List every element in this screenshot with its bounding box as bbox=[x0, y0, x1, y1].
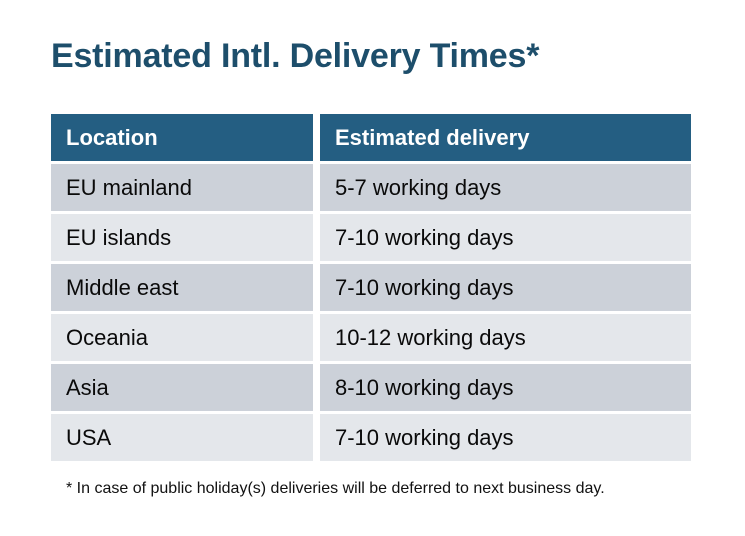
table-row: EU mainland 5-7 working days bbox=[51, 164, 691, 211]
cell-estimated-delivery: 8-10 working days bbox=[320, 364, 691, 411]
delivery-times-table: Location Estimated delivery EU mainland … bbox=[51, 114, 691, 461]
table-row: Oceania 10-12 working days bbox=[51, 314, 691, 361]
table-row: EU islands 7-10 working days bbox=[51, 214, 691, 261]
cell-location: EU islands bbox=[51, 214, 313, 261]
table-row: Asia 8-10 working days bbox=[51, 364, 691, 411]
column-header-location: Location bbox=[51, 114, 313, 161]
cell-location: Asia bbox=[51, 364, 313, 411]
column-header-estimated-delivery: Estimated delivery bbox=[320, 114, 691, 161]
cell-location: USA bbox=[51, 414, 313, 461]
cell-location: Oceania bbox=[51, 314, 313, 361]
cell-estimated-delivery: 5-7 working days bbox=[320, 164, 691, 211]
table-header-row: Location Estimated delivery bbox=[51, 114, 691, 161]
page-title: Estimated Intl. Delivery Times* bbox=[51, 36, 539, 77]
cell-estimated-delivery: 7-10 working days bbox=[320, 214, 691, 261]
delivery-times-page: Estimated Intl. Delivery Times* Location… bbox=[0, 0, 745, 536]
cell-location: Middle east bbox=[51, 264, 313, 311]
cell-estimated-delivery: 7-10 working days bbox=[320, 264, 691, 311]
cell-estimated-delivery: 7-10 working days bbox=[320, 414, 691, 461]
table-row: USA 7-10 working days bbox=[51, 414, 691, 461]
table-row: Middle east 7-10 working days bbox=[51, 264, 691, 311]
cell-location: EU mainland bbox=[51, 164, 313, 211]
cell-estimated-delivery: 10-12 working days bbox=[320, 314, 691, 361]
footnote-text: * In case of public holiday(s) deliverie… bbox=[66, 480, 605, 498]
